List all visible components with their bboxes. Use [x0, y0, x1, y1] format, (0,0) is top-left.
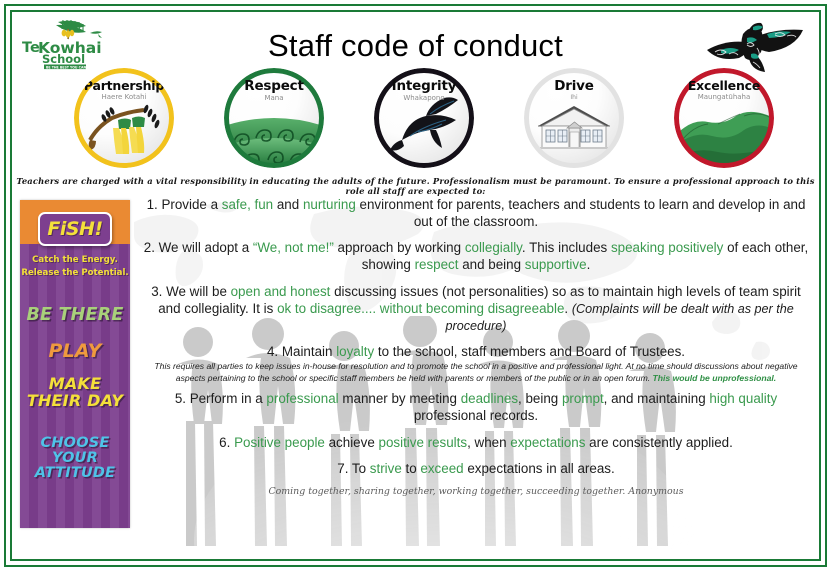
- item-number: 5.: [175, 391, 186, 406]
- keyword-safe-fun: safe, fun: [222, 197, 273, 212]
- keyword-nurturing: nurturing: [303, 197, 356, 212]
- closing-quote: Coming together, sharing together, worki…: [140, 486, 812, 497]
- item-text: manner by meeting: [339, 391, 461, 406]
- keyword-speaking-positively: speaking positively: [611, 240, 723, 255]
- keyword-expectations: expectations: [510, 435, 585, 450]
- fish-slogan-make-their-day: MAKE THEIR DAY: [20, 376, 130, 410]
- fine-print-emphasis: This would be unprofessional.: [653, 373, 777, 383]
- keyword-open-and-honest: open and honest: [231, 284, 331, 299]
- value-circle-partnership: Partnership Haere Kotahi: [74, 68, 174, 168]
- item-number: 7.: [337, 461, 348, 476]
- keyword-collegially: collegially: [465, 240, 522, 255]
- fish-slogan-choose-your-attitude: CHOOSE YOUR ATTITUDE: [20, 436, 130, 482]
- value-name-mi: Ihi: [524, 94, 624, 102]
- item-text: professional records.: [414, 408, 538, 423]
- value-circle-integrity: Integrity Whakapono: [374, 68, 474, 168]
- fish-slogan-be-there: BE THERE: [20, 306, 130, 324]
- item-text: Perform in a: [186, 391, 266, 406]
- keyword-respect: respect: [415, 257, 459, 272]
- value-name-en: Excellence: [674, 80, 774, 93]
- item-text: , and maintaining: [604, 391, 710, 406]
- staff-code-of-conduct-poster: Te Kowhai School BE THE BEST YOU CAN BE …: [0, 0, 831, 571]
- conduct-item-5: 5. Perform in a professional manner by m…: [140, 390, 812, 424]
- item-text: To: [348, 461, 369, 476]
- value-name-mi: Maungatūhaha: [674, 93, 774, 102]
- item-text: , when: [467, 435, 510, 450]
- value-circle-drive: Drive Ihi: [524, 68, 624, 168]
- item-text: to: [402, 461, 421, 476]
- item-text: . This includes: [522, 240, 611, 255]
- poster-body: FiSH! Catch the Energy. Release the Pote…: [14, 192, 817, 557]
- value-caption: Partnership Haere Kotahi: [74, 80, 174, 102]
- item-text: to the school, staff members and Board o…: [374, 344, 685, 359]
- item-number: 3.: [151, 284, 162, 299]
- value-circle-excellence: Excellence Maungatūhaha: [674, 68, 774, 168]
- fish-philosophy-poster: FiSH! Catch the Energy. Release the Pote…: [20, 200, 130, 528]
- keyword-deadlines: deadlines: [461, 391, 518, 406]
- keyword-positive-people: Positive people: [234, 435, 325, 450]
- keyword-exceed: exceed: [420, 461, 463, 476]
- fish-badge: FiSH!: [38, 212, 112, 246]
- value-circle-respect: Respect Mana: [224, 68, 324, 168]
- item-text: Provide a: [158, 197, 222, 212]
- value-name-en: Drive: [524, 80, 624, 94]
- item-text: .: [564, 301, 571, 316]
- keyword-we-not-me: “We, not me!”: [253, 240, 334, 255]
- poster-header: Te Kowhai School BE THE BEST YOU CAN BE …: [14, 14, 817, 179]
- fish-slogan-play: PLAY: [20, 342, 130, 362]
- conduct-item-7: 7. To strive to exceed expectations in a…: [140, 460, 812, 477]
- value-name-mi: Haere Kotahi: [74, 93, 174, 102]
- item-text: expectations in all areas.: [464, 461, 615, 476]
- fish-badge-label: FiSH!: [47, 218, 102, 240]
- item-number: 1.: [147, 197, 158, 212]
- conduct-list: 1. Provide a safe, fun and nurturing env…: [140, 196, 812, 497]
- value-name-en: Respect: [224, 80, 324, 94]
- keyword-ok-to-disagree: ok to disagree.... without becoming disa…: [277, 301, 564, 316]
- fish-tagline-line1: Catch the Energy.: [20, 254, 130, 267]
- value-caption: Excellence Maungatūhaha: [674, 80, 774, 102]
- keyword-strive: strive: [370, 461, 402, 476]
- value-name-en: Integrity: [374, 80, 474, 94]
- item-text: and being: [458, 257, 524, 272]
- item-text: and: [273, 197, 303, 212]
- item-text: environment for parents, teachers and st…: [356, 197, 806, 229]
- item-number: 4.: [267, 344, 278, 359]
- keyword-supportive: supportive: [525, 257, 587, 272]
- item-text: Maintain: [278, 344, 336, 359]
- keyword-prompt: prompt: [562, 391, 604, 406]
- value-name-mi: Mana: [224, 94, 324, 103]
- keyword-loyalty: loyalty: [336, 344, 374, 359]
- item-text: achieve: [325, 435, 379, 450]
- conduct-item-4: 4. Maintain loyalty to the school, staff…: [140, 343, 812, 384]
- fish-tagline: Catch the Energy. Release the Potential.: [20, 254, 130, 280]
- keyword-professional: professional: [266, 391, 338, 406]
- keyword-high-quality: high quality: [709, 391, 777, 406]
- item-4-fine-print: This requires all parties to keep issues…: [140, 361, 812, 384]
- keyword-positive-results: positive results: [379, 435, 468, 450]
- conduct-item-3: 3. We will be open and honest discussing…: [140, 283, 812, 334]
- value-caption: Respect Mana: [224, 80, 324, 103]
- item-text: approach by working: [334, 240, 465, 255]
- conduct-item-6: 6. Positive people achieve positive resu…: [140, 434, 812, 451]
- fish-tagline-line2: Release the Potential.: [20, 267, 130, 280]
- value-name-mi: Whakapono: [374, 94, 474, 103]
- item-text: , being: [518, 391, 562, 406]
- value-name-en: Partnership: [74, 80, 174, 93]
- school-values-row: Partnership Haere Kotahi: [74, 64, 774, 172]
- conduct-item-1: 1. Provide a safe, fun and nurturing env…: [140, 196, 812, 230]
- item-text: .: [587, 257, 591, 272]
- value-caption: Integrity Whakapono: [374, 80, 474, 103]
- item-text: We will be: [162, 284, 230, 299]
- conduct-item-2: 2. We will adopt a “We, not me!” approac…: [140, 239, 812, 273]
- item-number: 6.: [219, 435, 230, 450]
- item-text: are consistently applied.: [585, 435, 732, 450]
- item-number: 2.: [144, 240, 155, 255]
- value-caption: Drive Ihi: [524, 80, 624, 101]
- item-text: We will adopt a: [155, 240, 253, 255]
